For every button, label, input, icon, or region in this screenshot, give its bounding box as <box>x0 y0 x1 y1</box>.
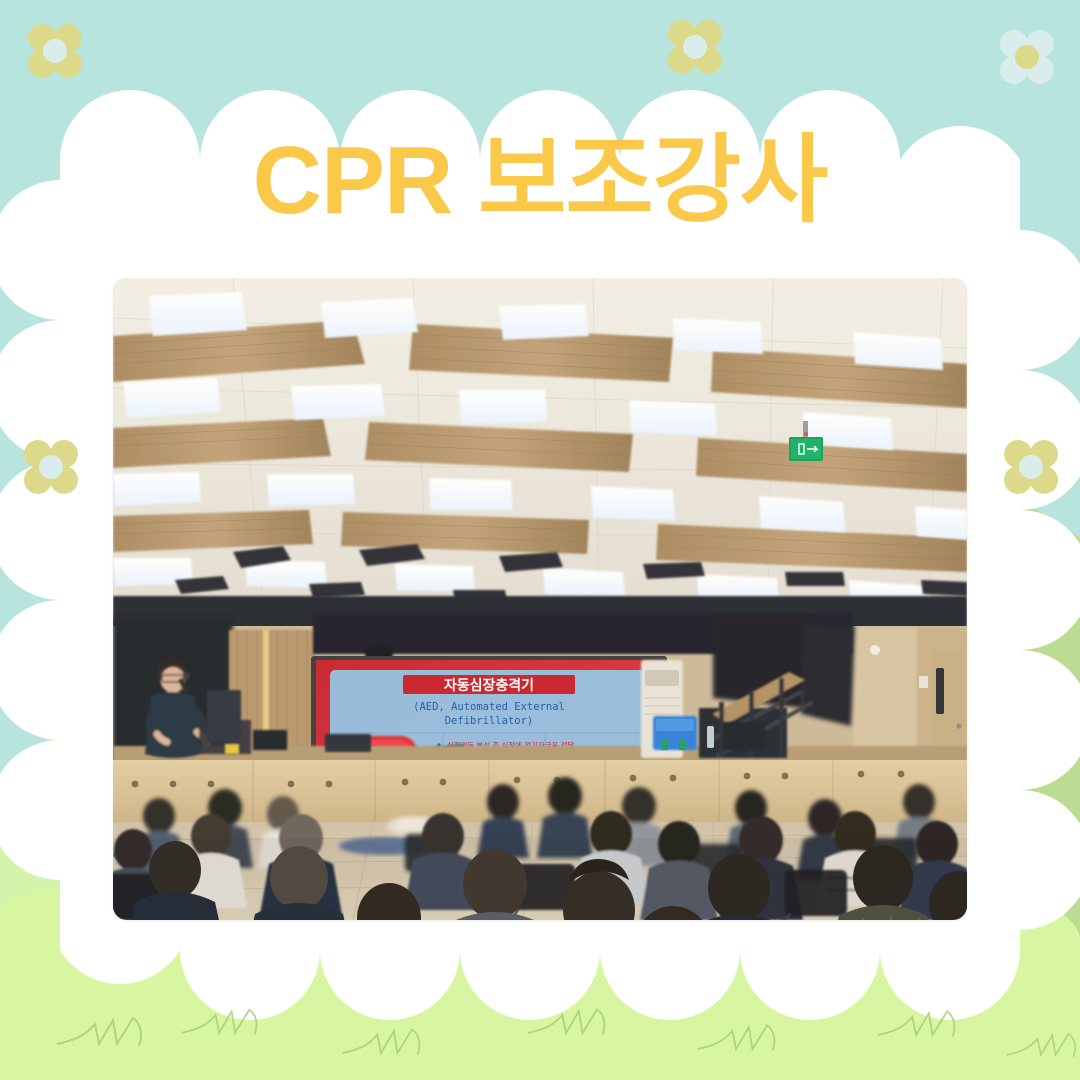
grass-sprout-7-icon <box>1005 1026 1080 1066</box>
grass-sprout-1-icon <box>55 1010 190 1056</box>
flower-top-left-icon <box>28 24 82 78</box>
grass-sprout-5-icon <box>695 1018 820 1060</box>
flower-top-center-icon <box>668 20 722 74</box>
grass-sprout-4-icon <box>525 1002 650 1044</box>
grass-sprout-2-icon <box>180 1002 300 1044</box>
flower-right-middle-icon <box>1004 440 1058 494</box>
flower-left-middle-icon <box>24 440 78 494</box>
page-title: CPR 보조강사 <box>0 133 1080 229</box>
grass-sprout-6-icon <box>875 1004 1000 1046</box>
cpr-training-photo: 자동심장충격기 (AED, Automated External Defibri… <box>113 278 967 920</box>
classroom-photo-illustration: 자동심장충격기 (AED, Automated External Defibri… <box>113 278 967 920</box>
grass-sprout-3-icon <box>340 1022 465 1064</box>
flower-top-right-icon <box>1000 30 1054 84</box>
